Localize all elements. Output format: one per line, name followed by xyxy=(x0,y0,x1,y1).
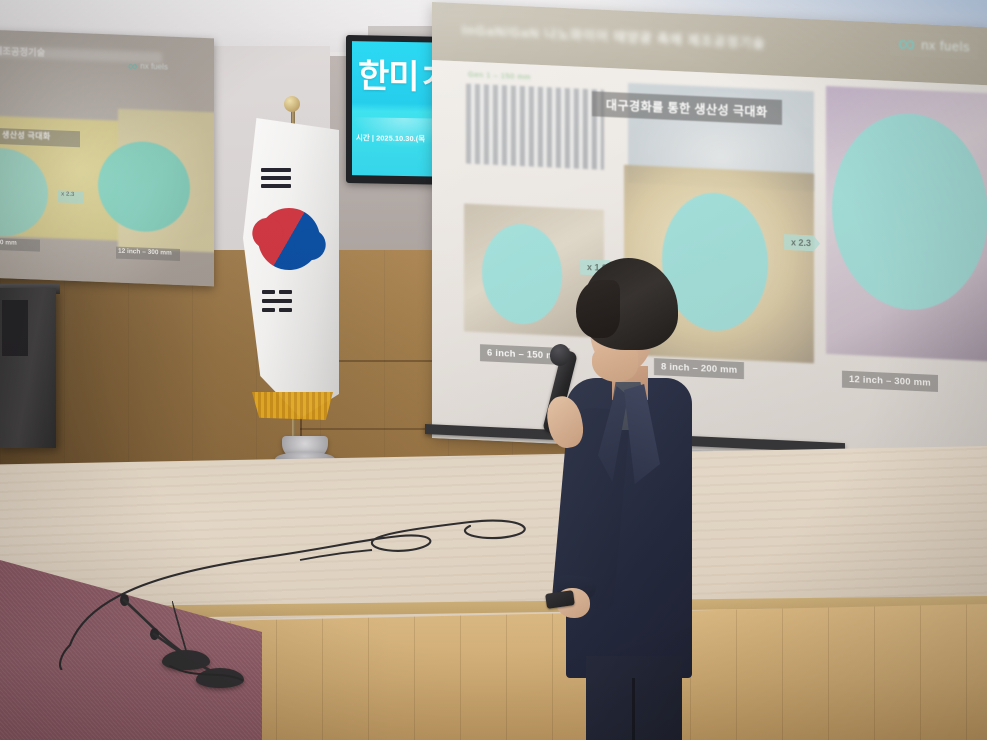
podium-shelf xyxy=(2,300,28,356)
slide-logo-text: nx fuels xyxy=(921,37,970,54)
slide-logo: ∞ nx fuels xyxy=(890,31,978,60)
flag-finial-icon xyxy=(284,96,300,112)
multiplier-badge-2-3: x 2.3 xyxy=(784,234,820,252)
trigram-bar xyxy=(262,290,275,294)
trigram-bar xyxy=(261,184,291,188)
trigram-bar xyxy=(279,290,292,294)
slide-caption-12inch: 12 inch – 300 mm xyxy=(842,371,938,392)
slide-photo xyxy=(466,84,604,170)
microphone-cable xyxy=(150,640,270,700)
left-screen-glare xyxy=(0,30,214,287)
slide-subcaption: Gen 1 – 150 mm xyxy=(468,70,531,82)
presenter-trouser-seam xyxy=(632,678,635,740)
trigram-bar xyxy=(261,168,291,172)
presenter-hair-fringe xyxy=(576,280,620,338)
presentation-hall-photo: 촉매 제조공정기술 ∞ nx fuels 를 통한 생산성 극대화 x 2.3 … xyxy=(0,0,987,740)
presenter xyxy=(520,258,730,740)
trigram-bar xyxy=(279,308,292,312)
trigram-bar xyxy=(261,176,291,180)
infinity-icon: ∞ xyxy=(898,34,915,54)
presenter-jaw xyxy=(592,346,638,382)
trigram-bar xyxy=(262,299,292,303)
trigram-bar xyxy=(262,308,275,312)
slide-column-12inch: 12 inch – 300 mm xyxy=(824,78,987,464)
